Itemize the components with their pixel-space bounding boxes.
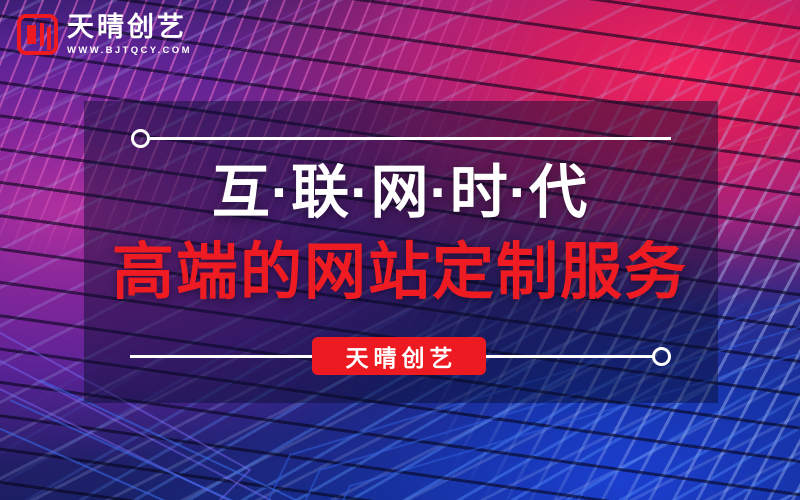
page-subtitle: 高端的网站定制服务 [0,239,800,307]
headline-block: 互·联·网·时·代 高端的网站定制服务 [0,162,800,307]
promo-banner: 天晴创艺 WWW.BJTQCY.COM 互·联·网·时·代 高端的网站定制服务 … [0,0,800,500]
tianqing-logo-mark-icon [17,14,58,55]
top-divider-circle-icon [131,129,150,148]
top-divider-line [150,137,671,140]
brand-name: 天晴创艺 [67,14,192,41]
page-title: 互·联·网·时·代 [0,162,800,225]
bottom-divider-circle-icon [652,347,671,366]
brand-logo[interactable]: 天晴创艺 WWW.BJTQCY.COM [17,14,192,56]
brand-website: WWW.BJTQCY.COM [67,46,192,56]
brand-badge[interactable]: 天晴创艺 [312,337,486,375]
brand-logo-text: 天晴创艺 WWW.BJTQCY.COM [67,14,192,56]
top-divider [131,129,671,148]
brand-badge-label: 天晴创艺 [341,339,458,373]
